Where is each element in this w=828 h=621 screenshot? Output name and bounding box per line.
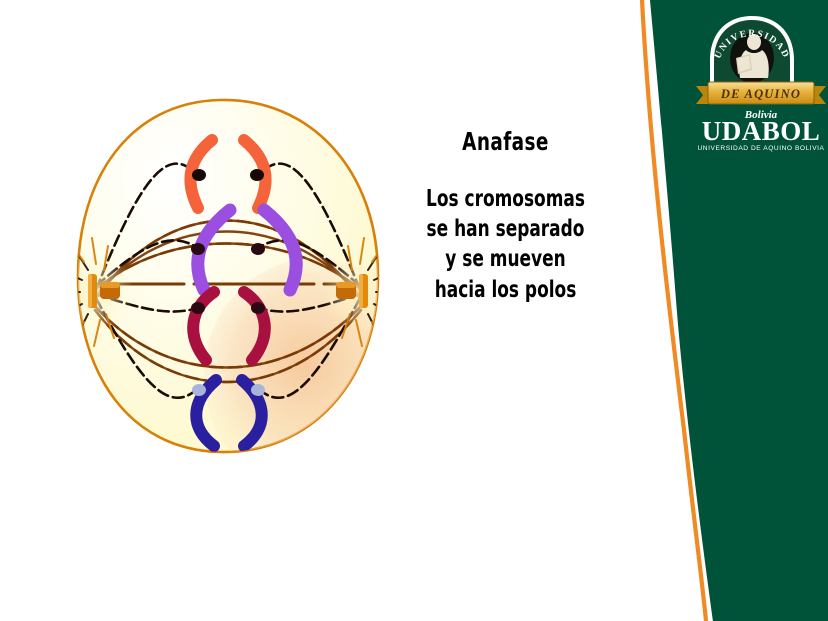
slide-canvas: Anafase Los cromosomas se han separado y… [0, 0, 828, 621]
caption-line: Los cromosomas [417, 184, 593, 214]
caption-line: hacia los polos [417, 275, 593, 305]
caption-text: Los cromosomas se han separado y se muev… [417, 184, 593, 305]
brand-panel [628, 0, 828, 621]
anaphase-cell-diagram [48, 58, 428, 498]
green-curve-shape [650, 0, 828, 621]
caption-block: Anafase Los cromosomas se han separado y… [398, 128, 613, 305]
caption-line: y se mueven [417, 244, 593, 274]
caption-line: se han separado [417, 214, 593, 244]
page-title: Anafase [417, 128, 593, 156]
